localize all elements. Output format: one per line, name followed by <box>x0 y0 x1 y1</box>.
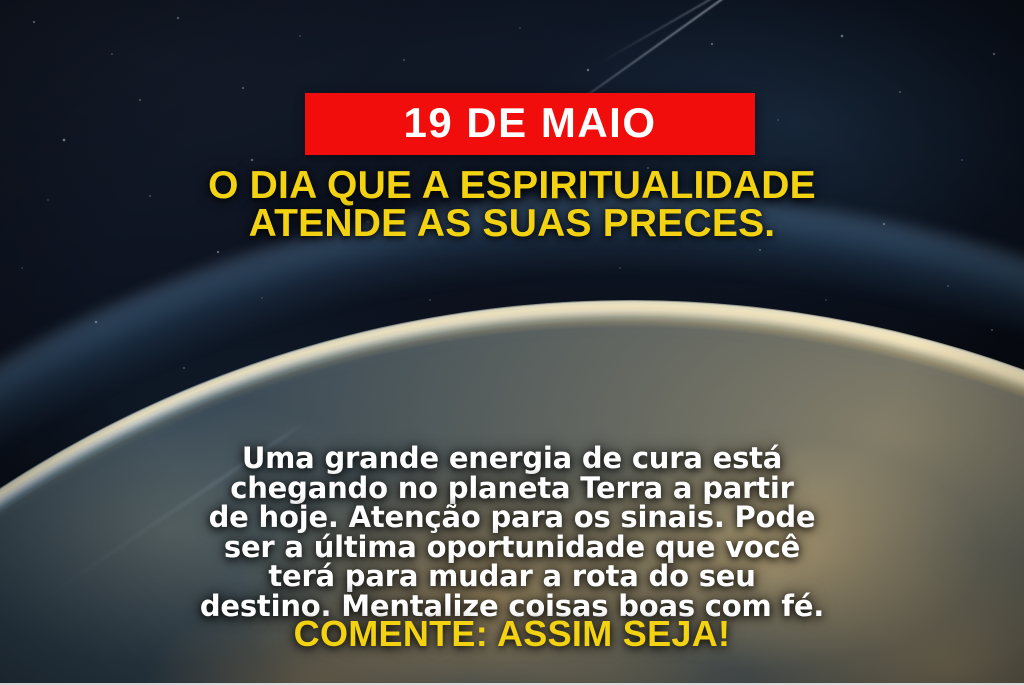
call-to-action: COMENTE: ASSIM SEJA! <box>0 614 1024 654</box>
body-line-2: chegando no planeta Terra a partir <box>0 474 1024 504</box>
headline: O DIA QUE A ESPIRITUALIDADE ATENDE AS SU… <box>0 167 1024 243</box>
body-line-3: de hoje. Atenção para os sinais. Pode <box>0 503 1024 533</box>
body-copy: Uma grande energia de cura está chegando… <box>0 444 1024 621</box>
headline-line-2: ATENDE AS SUAS PRECES. <box>0 205 1024 243</box>
poster-content: 19 DE MAIO O DIA QUE A ESPIRITUALIDADE A… <box>0 0 1024 685</box>
poster-canvas: 19 DE MAIO O DIA QUE A ESPIRITUALIDADE A… <box>0 0 1024 685</box>
body-line-5: terá para mudar a rota do seu <box>0 562 1024 592</box>
headline-line-1: O DIA QUE A ESPIRITUALIDADE <box>0 167 1024 205</box>
date-banner-label: 19 DE MAIO <box>403 102 656 144</box>
date-banner: 19 DE MAIO <box>305 93 755 155</box>
body-line-4: ser a última oportunidade que você <box>0 533 1024 563</box>
body-line-1: Uma grande energia de cura está <box>0 444 1024 474</box>
